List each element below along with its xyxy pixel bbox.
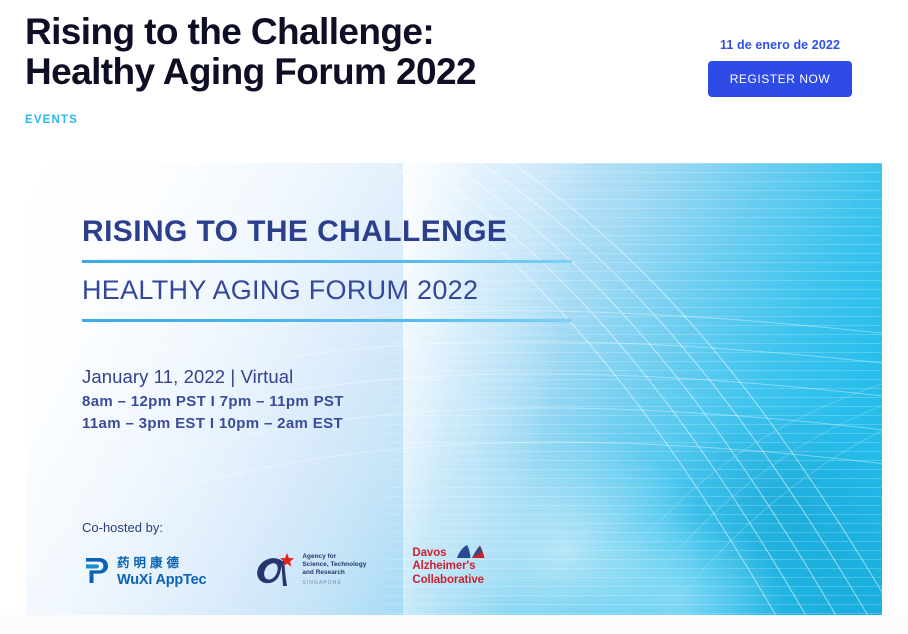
banner-divider-bottom (82, 319, 572, 322)
davos-line-3: Collaborative (412, 574, 484, 587)
banner-time-pst: 8am – 12pm PST I 7pm – 11pm PST (82, 393, 882, 410)
category-label[interactable]: EVENTS (25, 114, 883, 126)
logo-a-star: Agency for Science, Technology and Resea… (252, 553, 366, 587)
banner-schedule: January 11, 2022 | Virtual 8am – 12pm PS… (82, 366, 882, 432)
event-date: 11 de enero de 2022 (670, 38, 890, 52)
wuxi-wordmark: 药明康德 WuXi AppTec (117, 555, 206, 588)
co-host-section: Co-hosted by: 药明康德 WuXi AppTec (82, 520, 484, 587)
astar-wordmark: Agency for Science, Technology and Resea… (302, 553, 366, 586)
davos-mountain-icon (456, 544, 486, 559)
co-hosted-by-label: Co-hosted by: (82, 520, 484, 535)
header-actions: 11 de enero de 2022 REGISTER NOW (670, 38, 890, 97)
astar-line-1: Agency for (302, 553, 366, 561)
davos-line-2: Alzheimer's (412, 560, 484, 573)
logo-wuxi-apptec: 药明康德 WuXi AppTec (82, 555, 206, 588)
astar-country: SINGAPORE (302, 580, 366, 586)
banner-date-venue: January 11, 2022 | Virtual (82, 366, 882, 388)
banner-title: RISING TO THE CHALLENGE (82, 215, 882, 248)
page-header: Rising to the Challenge: Healthy Aging F… (0, 0, 908, 126)
astar-line-2: Science, Technology (302, 561, 366, 569)
astar-line-3: and Research (302, 569, 366, 577)
wuxi-p-mark-icon (82, 555, 112, 586)
banner-subtitle: HEALTHY AGING FORUM 2022 (82, 276, 882, 306)
logo-davos-alzheimers-collaborative: Davos Alzheimer's Collaborative (412, 547, 484, 587)
page-bottom-strip (0, 615, 908, 634)
page-title-line-2: Healthy Aging Forum 2022 (25, 52, 665, 92)
wuxi-english-name: WuXi AppTec (117, 573, 206, 588)
co-host-logos: 药明康德 WuXi AppTec Agency for Science, Tec… (82, 547, 484, 587)
event-banner-image[interactable]: RISING TO THE CHALLENGE HEALTHY AGING FO… (26, 163, 882, 615)
banner-divider-top (82, 260, 572, 263)
astar-a-mark-icon (252, 553, 296, 587)
register-now-button[interactable]: REGISTER NOW (708, 61, 853, 97)
banner-time-est: 11am – 3pm EST I 10pm – 2am EST (82, 415, 882, 432)
page-title: Rising to the Challenge: Healthy Aging F… (25, 12, 665, 91)
wuxi-chinese-name: 药明康德 (117, 555, 183, 570)
page-title-line-1: Rising to the Challenge: (25, 12, 665, 52)
